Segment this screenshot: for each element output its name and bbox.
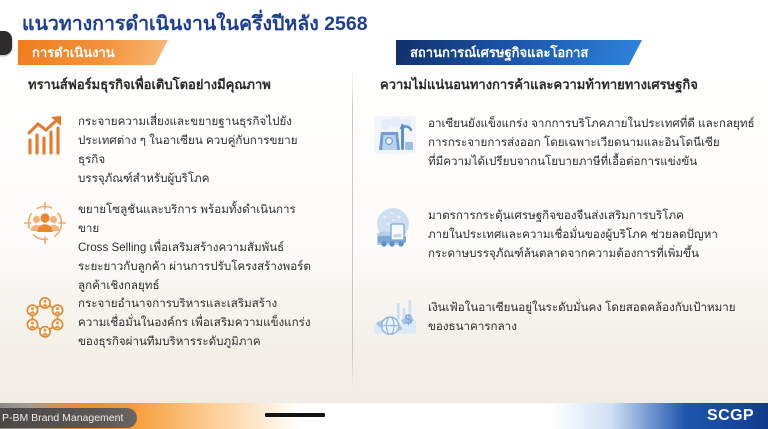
- list-item: มาตรการกระตุ้นเศรษฐกิจของจีนส่งเสริมการบ…: [372, 204, 760, 263]
- list-item: กระจายความเสี่ยงและขยายฐานธุรกิจไปยัง ปร…: [22, 112, 314, 188]
- list-item-text: ขยายโซลูชันและบริการ พร้อมทั้งดำเนินการข…: [78, 200, 314, 295]
- list-item: อาเซียนยังแข็งแกร่ง จากการบริโภคภายในประ…: [372, 112, 760, 171]
- delivery-truck-package-icon: [372, 204, 418, 250]
- corner-marker-nub: [0, 31, 12, 55]
- footer-bar: P-BM Brand Management SCGP: [0, 403, 768, 429]
- list-item: $ เงินเฟ้อในอาเซียนอยู่ในระดับมั่นคง โดย…: [372, 296, 760, 342]
- bar-chart-growth-arrow-icon: [22, 112, 68, 158]
- list-item-text: อาเซียนยังแข็งแกร่ง จากการบริโภคภายในประ…: [428, 112, 760, 171]
- scgp-logo: SCGP: [707, 407, 754, 425]
- list-item-text: เงินเฟ้อในอาเซียนอยู่ในระดับมั่นคง โดยสอ…: [428, 296, 760, 336]
- svg-text:$: $: [405, 312, 413, 327]
- page-title: แนวทางการดำเนินงานในครึ่งปีหลัง 2568: [22, 8, 368, 39]
- slide-canvas: แนวทางการดำเนินงานในครึ่งปีหลัง 2568 การ…: [0, 0, 768, 429]
- slide-progress-bar: [265, 413, 325, 417]
- column-divider: [352, 70, 353, 390]
- list-item-text: มาตรการกระตุ้นเศรษฐกิจของจีนส่งเสริมการบ…: [428, 204, 760, 263]
- ribbon-label-operations: การดำเนินงาน: [32, 42, 115, 63]
- list-item: ขยายโซลูชันและบริการ พร้อมทั้งดำเนินการข…: [22, 200, 314, 295]
- ribbon-tab-operations: การดำเนินงาน: [18, 40, 168, 65]
- column-heading-left: ทรานส์ฟอร์มธุรกิจเพื่อเติบโตอย่างมีคุณภา…: [28, 74, 271, 95]
- network-people-nodes-icon: [22, 294, 68, 340]
- globe-money-dollar-icon: $: [372, 296, 418, 342]
- list-item-text: กระจายอำนาจการบริหารและเสริมสร้าง ความเช…: [78, 294, 314, 351]
- list-item: กระจายอำนาจการบริหารและเสริมสร้าง ความเช…: [22, 294, 314, 351]
- footer-tag: P-BM Brand Management: [0, 408, 137, 428]
- ribbon-tab-economy: สถานการณ์เศรษฐกิจและโอกาส: [396, 40, 642, 65]
- shopping-consumer-cart-icon: [372, 112, 418, 158]
- target-people-group-icon: [22, 200, 68, 246]
- column-heading-right: ความไม่แน่นอนทางการค้าและความท้าทายทางเศ…: [380, 74, 698, 95]
- footer-tag-label: P-BM Brand Management: [2, 412, 123, 424]
- list-item-text: กระจายความเสี่ยงและขยายฐานธุรกิจไปยัง ปร…: [78, 112, 314, 188]
- ribbon-label-economy: สถานการณ์เศรษฐกิจและโอกาส: [410, 42, 588, 63]
